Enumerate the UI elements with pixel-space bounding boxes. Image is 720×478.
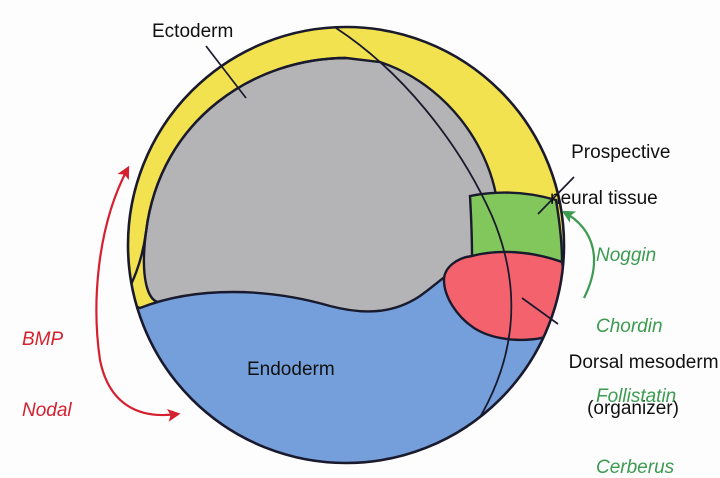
label-ectoderm: Ectoderm — [152, 20, 233, 43]
gene-noggin: Noggin — [596, 244, 676, 268]
signal-bmp: BMP — [22, 328, 72, 352]
label-endoderm: Endoderm — [247, 358, 335, 381]
bmp-nodal-signal-list: BMP Nodal — [22, 281, 72, 469]
label-prospective-line1: Prospective — [571, 142, 670, 163]
signal-nodal: Nodal — [22, 399, 72, 423]
gene-cerberus: Cerberus — [596, 456, 676, 478]
gene-chordin: Chordin — [596, 315, 676, 339]
gene-follistatin: Follistatin — [596, 385, 676, 409]
embryo-body — [110, 27, 566, 478]
neural-inhibitor-gene-list: Noggin Chordin Follistatin Cerberus — [596, 197, 676, 478]
embryo-diagram-figure: Ectoderm Endoderm Prospective neural tis… — [0, 0, 720, 478]
